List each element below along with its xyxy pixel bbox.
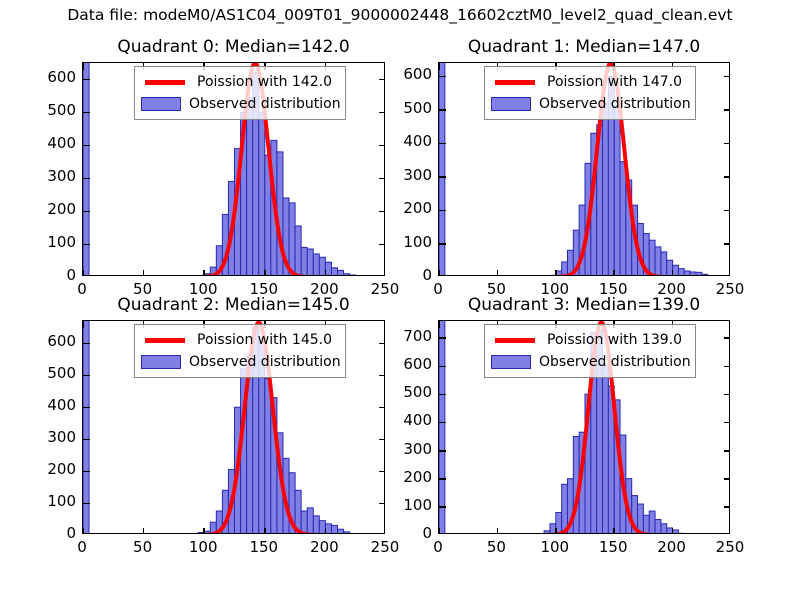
legend-line-swatch-icon	[491, 80, 539, 85]
legend-line-swatch-icon	[141, 338, 189, 343]
histogram-bar	[603, 103, 609, 276]
histogram-bar	[702, 274, 708, 276]
patch-marker-icon	[141, 97, 181, 111]
histogram-bar	[550, 275, 556, 276]
histogram-bar	[690, 272, 696, 276]
x-tick-mark	[555, 528, 557, 534]
line-marker-icon	[495, 80, 535, 85]
histogram-bar	[313, 516, 319, 534]
x-tick-mark	[143, 270, 145, 276]
y-tick-label: 100	[24, 492, 76, 510]
legend-entry: Observed distribution	[141, 351, 339, 373]
subplot-quadrant-1: Quadrant 1: Median=147.00100200300400500…	[438, 62, 730, 276]
subplot-title: Quadrant 2: Median=145.0	[82, 295, 385, 315]
histogram-bar	[562, 262, 568, 276]
y-tick-mark-right	[724, 76, 730, 78]
histogram-bar	[684, 271, 690, 276]
histogram-bar	[259, 112, 265, 276]
y-tick-mark	[83, 407, 90, 409]
x-tick-mark-top	[438, 321, 440, 328]
line-marker-icon	[145, 80, 185, 85]
x-tick-mark	[613, 270, 615, 276]
matplotlib-figure: Data file: modeM0/AS1C04_009T01_90000024…	[0, 0, 800, 600]
histogram-bar	[325, 524, 331, 534]
y-tick-mark	[83, 244, 90, 246]
x-tick-mark-top	[438, 63, 440, 70]
legend-label: Observed distribution	[531, 96, 691, 112]
histogram-bar	[439, 321, 445, 534]
y-tick-mark	[83, 79, 90, 81]
y-tick-label: 100	[24, 233, 76, 251]
histogram-bar	[331, 268, 337, 276]
y-tick-mark	[439, 143, 446, 145]
legend[interactable]: Poission with 147.0Observed distribution	[484, 66, 696, 120]
y-tick-label: 300	[380, 440, 432, 458]
histogram-bar	[307, 508, 313, 534]
y-tick-mark-right	[724, 243, 730, 245]
histogram-bar	[655, 247, 661, 276]
histogram-bar	[344, 532, 350, 534]
y-tick-label: 600	[380, 65, 432, 83]
x-tick-label: 150	[583, 538, 643, 556]
y-tick-mark	[439, 109, 446, 111]
y-tick-mark	[83, 211, 90, 213]
y-tick-label: 100	[380, 233, 432, 251]
histogram-bar	[643, 515, 649, 534]
x-tick-mark	[264, 528, 266, 534]
x-tick-mark	[672, 270, 674, 276]
y-tick-mark	[439, 394, 446, 396]
y-tick-mark	[439, 478, 446, 480]
legend-entry: Poission with 145.0	[141, 329, 339, 351]
legend[interactable]: Poission with 142.0Observed distribution	[134, 66, 346, 120]
y-tick-mark-right	[724, 337, 730, 339]
subplot-quadrant-2: Quadrant 2: Median=145.00100200300400500…	[82, 320, 385, 534]
y-tick-mark-right	[379, 407, 385, 409]
y-tick-mark	[83, 343, 90, 345]
legend-entry: Observed distribution	[491, 93, 689, 115]
subplot-quadrant-3: Quadrant 3: Median=139.00100200300400500…	[438, 320, 730, 534]
histogram-bar	[678, 269, 684, 276]
y-tick-mark-right	[724, 450, 730, 452]
subplot-quadrant-0: Quadrant 0: Median=142.00100200300400500…	[82, 62, 385, 276]
figure-suptitle: Data file: modeM0/AS1C04_009T01_90000024…	[0, 6, 800, 24]
legend-entry: Observed distribution	[141, 93, 339, 115]
y-tick-mark	[439, 243, 446, 245]
x-tick-mark	[613, 528, 615, 534]
x-tick-mark	[143, 528, 145, 534]
y-tick-mark-right	[724, 210, 730, 212]
legend-entry: Observed distribution	[491, 351, 689, 373]
y-tick-label: 400	[24, 396, 76, 414]
histogram-bar	[649, 240, 655, 276]
x-tick-mark	[82, 528, 84, 534]
legend[interactable]: Poission with 139.0Observed distribution	[484, 324, 696, 378]
x-tick-mark	[555, 270, 557, 276]
y-tick-mark	[439, 450, 446, 452]
y-tick-mark	[439, 422, 446, 424]
histogram-bar	[301, 511, 307, 534]
legend-label: Observed distribution	[181, 354, 341, 370]
subplot-title: Quadrant 1: Median=147.0	[438, 37, 730, 57]
x-tick-mark	[203, 270, 205, 276]
x-tick-mark	[438, 528, 440, 534]
patch-marker-icon	[491, 97, 531, 111]
histogram-bar	[247, 98, 253, 276]
histogram-bar	[289, 203, 295, 276]
histogram-bar	[661, 524, 667, 534]
x-tick-mark	[438, 270, 440, 276]
histogram-bar	[544, 531, 550, 534]
y-tick-label: 500	[24, 101, 76, 119]
x-tick-mark	[497, 270, 499, 276]
y-tick-label: 300	[24, 167, 76, 185]
histogram-bar	[307, 249, 313, 276]
y-tick-label: 600	[24, 68, 76, 86]
y-tick-label: 200	[24, 460, 76, 478]
y-tick-mark	[83, 503, 90, 505]
y-tick-mark-right	[724, 366, 730, 368]
histogram-bar	[301, 247, 307, 276]
y-tick-label: 300	[380, 166, 432, 184]
x-tick-label: 50	[113, 538, 173, 556]
y-tick-label: 100	[380, 496, 432, 514]
line-marker-icon	[145, 338, 185, 343]
histogram-bar	[338, 529, 344, 534]
y-tick-mark-right	[724, 143, 730, 145]
x-tick-mark-top	[82, 63, 84, 70]
y-tick-label: 500	[380, 383, 432, 401]
histogram-bar	[678, 533, 684, 534]
y-tick-label: 400	[380, 132, 432, 150]
x-tick-mark	[82, 270, 84, 276]
patch-marker-icon	[491, 355, 531, 369]
y-tick-mark	[83, 112, 90, 114]
y-tick-mark-right	[379, 375, 385, 377]
subplot-title: Quadrant 3: Median=139.0	[438, 295, 730, 315]
line-marker-icon	[495, 338, 535, 343]
histogram-bar	[620, 162, 626, 276]
legend-patch-swatch-icon	[141, 97, 181, 111]
y-tick-label: 500	[380, 99, 432, 117]
y-tick-label: 400	[380, 411, 432, 429]
legend-label: Poission with 142.0	[189, 74, 332, 90]
histogram-bar	[649, 511, 655, 534]
x-tick-label: 150	[234, 538, 294, 556]
x-tick-mark	[325, 528, 327, 534]
y-tick-mark-right	[724, 422, 730, 424]
subplot-title: Quadrant 0: Median=142.0	[82, 37, 385, 57]
y-tick-label: 200	[380, 468, 432, 486]
histogram-bar	[696, 272, 702, 276]
histogram-bar	[338, 270, 344, 276]
histogram-bar	[556, 271, 562, 276]
y-tick-mark	[83, 471, 90, 473]
histogram-bar	[661, 252, 667, 276]
y-tick-label: 600	[380, 355, 432, 373]
y-tick-mark	[439, 210, 446, 212]
patch-marker-icon	[141, 355, 181, 369]
legend-entry: Poission with 142.0	[141, 71, 339, 93]
x-tick-mark	[264, 270, 266, 276]
legend-entry: Poission with 139.0	[491, 329, 689, 351]
histogram-bar	[313, 254, 319, 276]
legend-line-swatch-icon	[491, 338, 539, 343]
y-tick-label: 200	[24, 200, 76, 218]
x-tick-label: 100	[173, 538, 233, 556]
y-tick-mark-right	[724, 394, 730, 396]
y-tick-mark	[83, 145, 90, 147]
y-tick-mark-right	[724, 109, 730, 111]
y-tick-mark	[439, 337, 446, 339]
x-tick-mark-top	[82, 321, 84, 328]
legend-line-swatch-icon	[141, 80, 189, 85]
histogram-bar	[673, 530, 679, 534]
legend-patch-swatch-icon	[491, 97, 531, 111]
y-tick-mark	[439, 176, 446, 178]
x-tick-label: 200	[294, 538, 354, 556]
histogram-bar	[655, 520, 661, 534]
x-tick-mark	[203, 528, 205, 534]
histogram-bar	[350, 275, 356, 276]
y-tick-mark-right	[724, 176, 730, 178]
y-tick-label: 600	[24, 332, 76, 350]
legend-entry: Poission with 147.0	[491, 71, 689, 93]
histogram-bar	[673, 265, 679, 276]
y-tick-mark-right	[724, 506, 730, 508]
legend[interactable]: Poission with 145.0Observed distribution	[134, 324, 346, 378]
x-tick-label: 50	[466, 538, 526, 556]
histogram-bar	[614, 106, 620, 276]
x-tick-label: 200	[642, 538, 702, 556]
y-tick-label: 700	[380, 327, 432, 345]
x-tick-label: 100	[525, 538, 585, 556]
y-tick-mark	[83, 178, 90, 180]
legend-label: Observed distribution	[531, 354, 691, 370]
y-tick-label: 500	[24, 364, 76, 382]
x-tick-mark	[672, 528, 674, 534]
y-tick-mark	[83, 375, 90, 377]
y-tick-mark	[439, 366, 446, 368]
histogram-bar	[204, 531, 210, 534]
x-tick-mark	[325, 270, 327, 276]
histogram-bar	[331, 525, 337, 534]
x-tick-label: 0	[408, 538, 468, 556]
y-tick-mark-right	[724, 478, 730, 480]
legend-patch-swatch-icon	[141, 355, 181, 369]
y-tick-label: 400	[24, 134, 76, 152]
histogram-bar	[325, 262, 331, 276]
histogram-bar	[265, 378, 271, 534]
legend-label: Poission with 139.0	[539, 332, 682, 348]
y-tick-label: 300	[24, 428, 76, 446]
histogram-bar	[603, 366, 609, 534]
legend-label: Observed distribution	[181, 96, 341, 112]
x-tick-label: 0	[52, 538, 112, 556]
y-tick-mark	[83, 439, 90, 441]
y-tick-mark	[439, 76, 446, 78]
histogram-bar	[344, 274, 350, 276]
legend-patch-swatch-icon	[491, 355, 531, 369]
y-tick-mark	[439, 506, 446, 508]
legend-label: Poission with 145.0	[189, 332, 332, 348]
x-tick-mark	[497, 528, 499, 534]
y-tick-label: 200	[380, 199, 432, 217]
histogram-bar	[295, 226, 301, 276]
x-tick-label: 250	[700, 538, 760, 556]
legend-label: Poission with 147.0	[539, 74, 682, 90]
histogram-bar	[556, 512, 562, 534]
